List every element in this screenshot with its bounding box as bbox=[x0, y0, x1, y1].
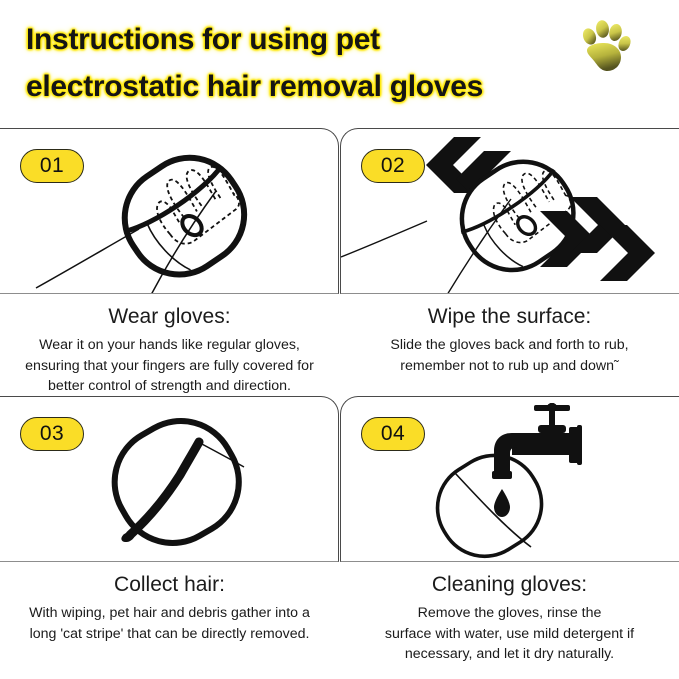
infographic-page: Instructions for using pet electrostatic… bbox=[0, 0, 679, 679]
figure-box-04: 04 bbox=[340, 396, 679, 562]
step-body-03: With wiping, pet hair and debris gather … bbox=[0, 598, 339, 644]
step-panel-03: 03 Collect hair: With wiping, pet hair a… bbox=[0, 396, 339, 644]
step-body-04: Remove the gloves, rinse the surface wit… bbox=[340, 598, 679, 665]
step-title-04: Cleaning gloves: bbox=[340, 572, 679, 598]
step-body-line: Remove the gloves, rinse the bbox=[354, 603, 665, 624]
step-body-line: surface with water, use mild detergent i… bbox=[354, 624, 665, 645]
step-panel-01: 01 bbox=[0, 128, 339, 397]
figure-box-03: 03 bbox=[0, 396, 339, 562]
title-line-1: Instructions for using pet bbox=[26, 22, 586, 58]
page-title: Instructions for using pet electrostatic… bbox=[26, 22, 586, 105]
step-panel-04: 04 bbox=[340, 396, 679, 665]
step-number-badge-03: 03 bbox=[20, 417, 84, 451]
step-body-line: necessary, and let it dry naturally. bbox=[354, 644, 665, 665]
step-body-line: With wiping, pet hair and debris gather … bbox=[14, 603, 325, 624]
step-title-03: Collect hair: bbox=[0, 572, 339, 598]
paw-print-icon bbox=[576, 16, 632, 74]
step-body-line: remember not to rub up and down˜ bbox=[354, 356, 665, 377]
title-line-2: electrostatic hair removal gloves bbox=[26, 69, 586, 105]
step-number-badge-01: 01 bbox=[20, 149, 84, 183]
step-body-line: Wear it on your hands like regular glove… bbox=[14, 335, 325, 356]
step-body-02: Slide the gloves back and forth to rub, … bbox=[340, 330, 679, 376]
step-body-line: Slide the gloves back and forth to rub, bbox=[354, 335, 665, 356]
header: Instructions for using pet electrostatic… bbox=[0, 0, 679, 128]
step-title-01: Wear gloves: bbox=[0, 304, 339, 330]
step-body-line: long 'cat stripe' that can be directly r… bbox=[14, 624, 325, 645]
step-body-01: Wear it on your hands like regular glove… bbox=[0, 330, 339, 397]
step-number-badge-02: 02 bbox=[361, 149, 425, 183]
caption-02: Wipe the surface: Slide the gloves back … bbox=[340, 294, 679, 376]
caption-04: Cleaning gloves: Remove the gloves, rins… bbox=[340, 562, 679, 665]
step-body-line: ensuring that your fingers are fully cov… bbox=[14, 356, 325, 377]
figure-box-02: 02 bbox=[340, 128, 679, 294]
caption-03: Collect hair: With wiping, pet hair and … bbox=[0, 562, 339, 644]
step-panel-02: 02 bbox=[340, 128, 679, 376]
caption-01: Wear gloves: Wear it on your hands like … bbox=[0, 294, 339, 397]
figure-box-01: 01 bbox=[0, 128, 339, 294]
step-title-02: Wipe the surface: bbox=[340, 304, 679, 330]
step-body-line: better control of strength and direction… bbox=[14, 376, 325, 397]
step-number-badge-04: 04 bbox=[361, 417, 425, 451]
